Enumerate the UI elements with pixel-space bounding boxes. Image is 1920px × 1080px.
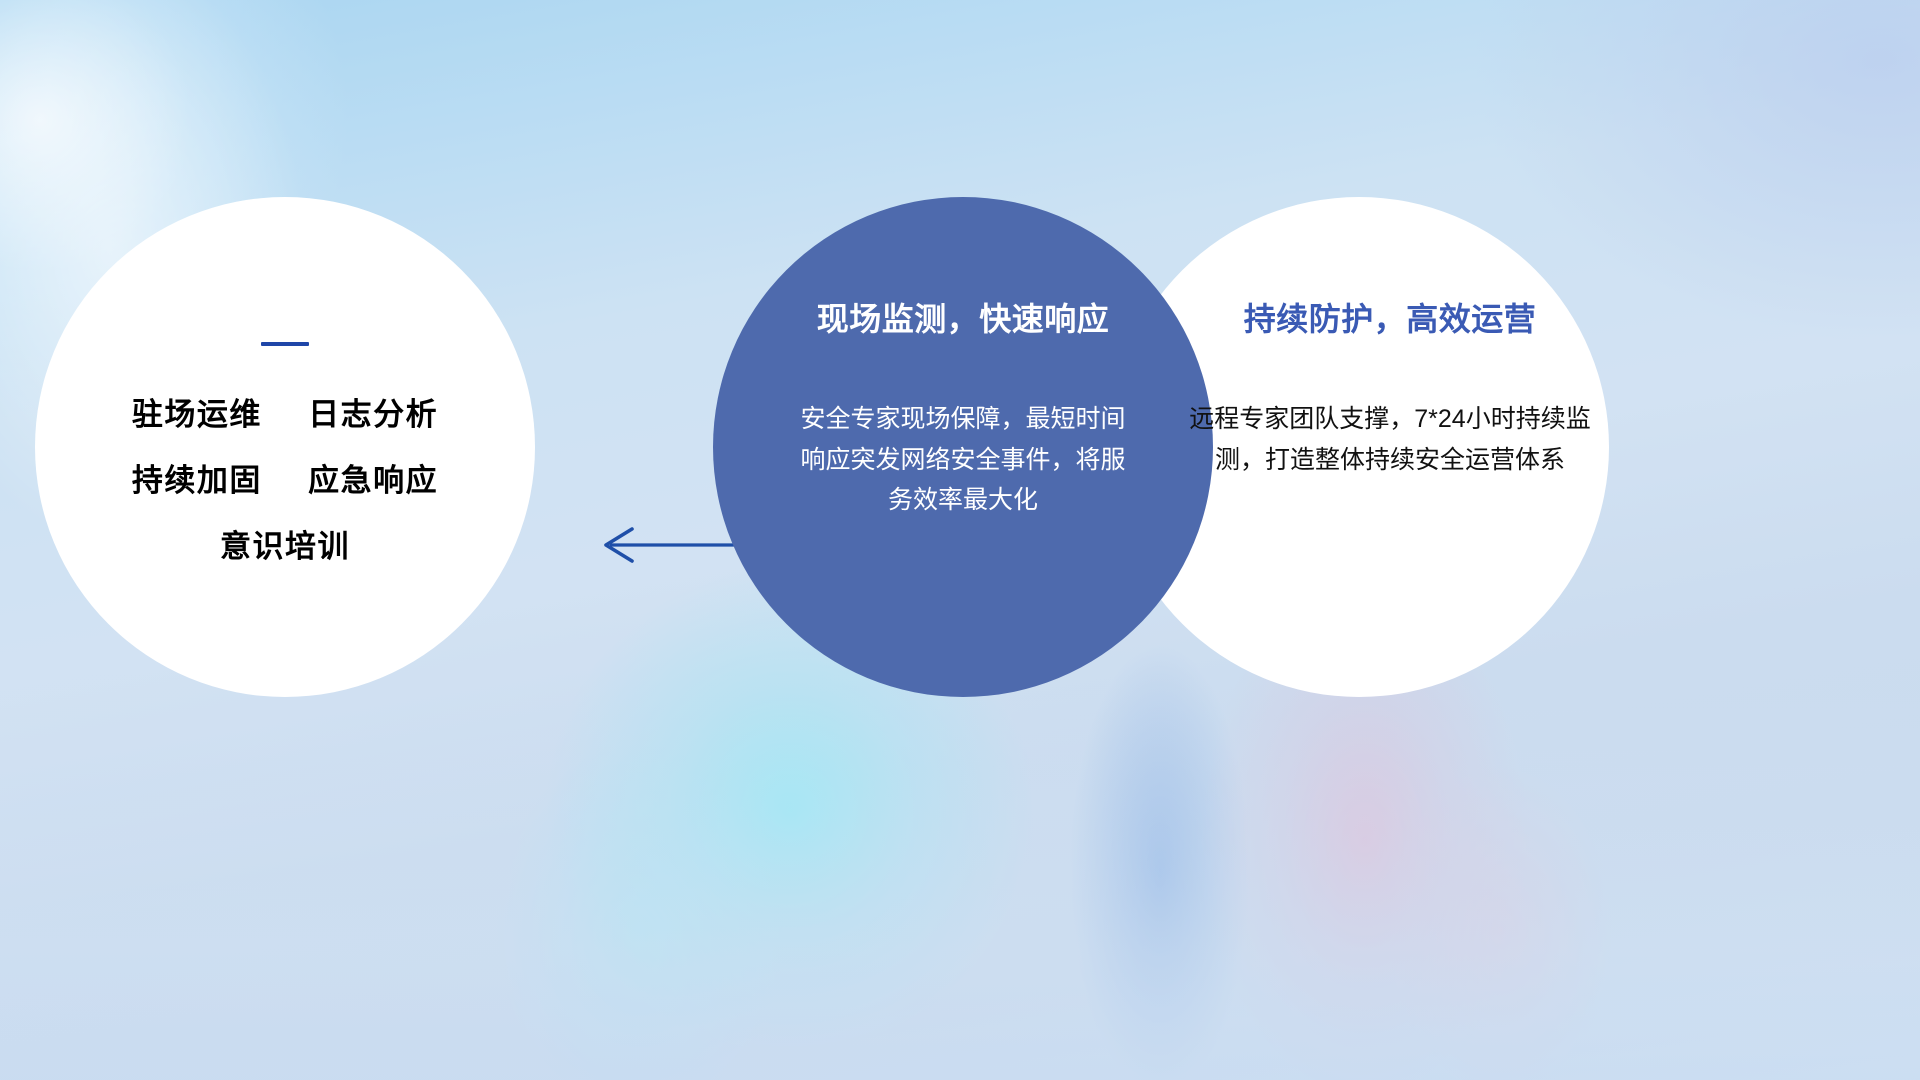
capability-row-1: 驻场运维 日志分析	[132, 399, 438, 430]
onsite-monitoring-heading: 现场监测，快速响应	[817, 302, 1110, 337]
capability-item-continuous-hardening: 持续加固	[132, 463, 262, 498]
onsite-monitoring-body: 安全专家现场保障，最短时间响应突发网络安全事件，将服务效率最大化	[793, 399, 1133, 521]
continuous-protection-heading: 持续防护，高效运营	[1244, 302, 1537, 337]
slide-canvas: 驻场运维 日志分析 持续加固 应急响应 意识培训 现场监测，快速响应 安全专家现…	[0, 0, 1920, 1080]
onsite-monitoring-content: 现场监测，快速响应 安全专家现场保障，最短时间响应突发网络安全事件，将服务效率最…	[713, 197, 1213, 697]
capability-item-emergency-response: 应急响应	[308, 463, 438, 498]
capability-circle-content: 驻场运维 日志分析 持续加固 应急响应 意识培训	[35, 197, 535, 697]
capability-item-awareness-training: 意识培训	[220, 529, 350, 564]
capability-row-2: 持续加固 应急响应	[132, 465, 438, 496]
divider-dash	[261, 342, 309, 346]
capability-item-log-analysis: 日志分析	[308, 397, 438, 432]
capability-item-onsite-ops: 驻场运维	[132, 397, 262, 432]
continuous-protection-body: 远程专家团队支撑，7*24小时持续监测，打造整体持续安全运营体系	[1180, 399, 1600, 480]
capability-row-3: 意识培训	[220, 531, 350, 562]
